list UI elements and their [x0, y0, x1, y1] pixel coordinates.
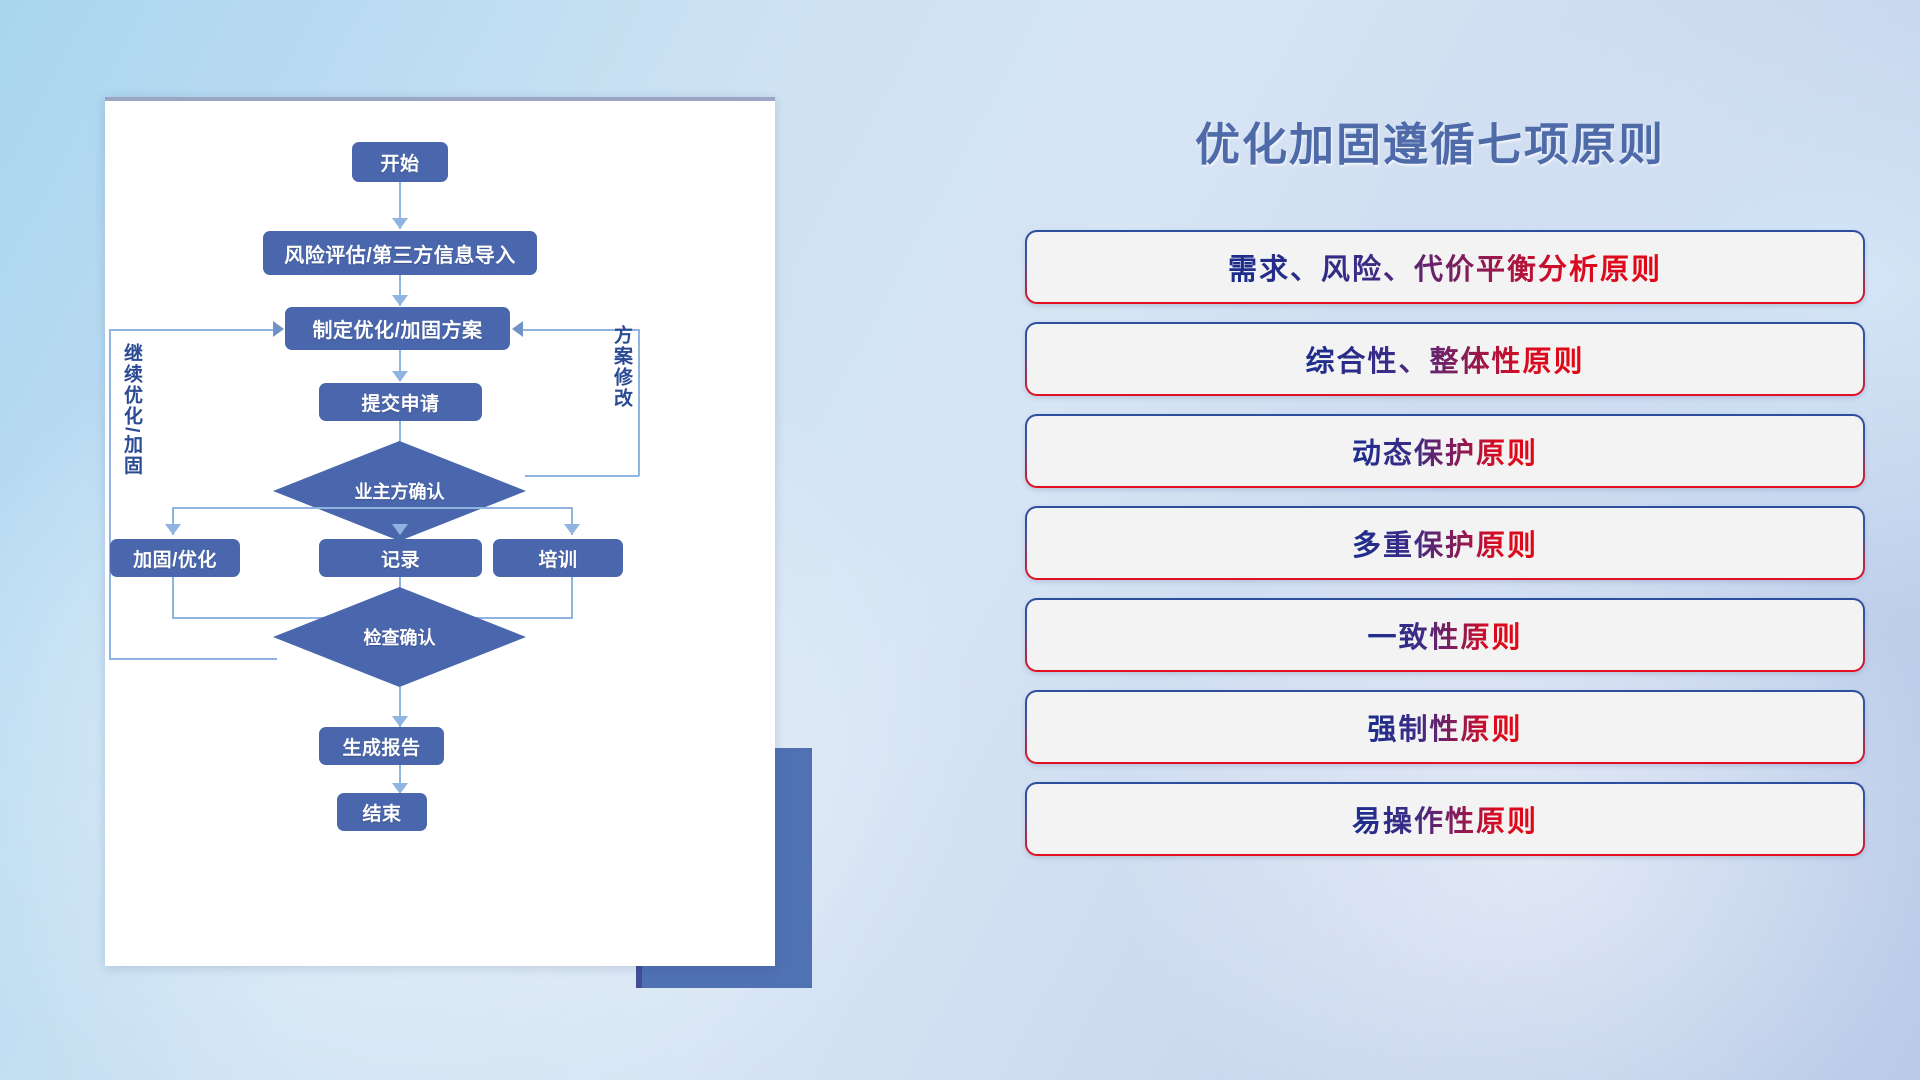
edge-label-continue-optimize: 继续优化/加固 — [121, 343, 141, 476]
arrowhead-down-submit — [392, 371, 408, 382]
flow-node-risk-assessment[interactable]: 风险评估/第三方信息导入 — [263, 231, 537, 275]
flow-node-record[interactable]: 记录 — [319, 539, 482, 577]
connector-reinforce-down — [172, 577, 174, 619]
arrowhead-right-plan-left — [273, 321, 284, 337]
principles-panel: 优化加固遵循七项原则 需求、风险、代价平衡分析原则 综合性、整体性原则 动态保护… — [990, 0, 1920, 1080]
connector-fanout-bar — [172, 507, 572, 509]
page-title: 优化加固遵循七项原则 — [990, 108, 1870, 173]
flow-node-generate-report[interactable]: 生成报告 — [319, 727, 444, 765]
flow-node-start[interactable]: 开始 — [352, 142, 448, 182]
principle-label: 综合性、整体性原则 — [1305, 338, 1584, 380]
principle-label: 易操作性原则 — [1352, 798, 1538, 840]
arrowhead-down-plan — [392, 295, 408, 306]
connector-loop-left-vertical — [109, 329, 111, 659]
principle-label: 一致性原则 — [1367, 614, 1522, 656]
connector-owner-to-right-loop — [525, 475, 639, 477]
arrowhead-down-report — [392, 716, 408, 727]
principle-label: 多重保护原则 — [1352, 522, 1538, 564]
flow-node-submit-application[interactable]: 提交申请 — [319, 383, 482, 421]
principle-item-6[interactable]: 强制性原则 — [1025, 690, 1865, 764]
principle-item-5[interactable]: 一致性原则 — [1025, 598, 1865, 672]
principles-list: 需求、风险、代价平衡分析原则 综合性、整体性原则 动态保护原则 多重保护原则 一… — [1025, 230, 1865, 874]
arrowhead-down-record — [392, 524, 408, 535]
arrowhead-down-risk — [392, 218, 408, 229]
arrowhead-down-reinforce — [165, 524, 181, 535]
connector-loop-right-vertical — [638, 329, 640, 476]
principle-item-7[interactable]: 易操作性原则 — [1025, 782, 1865, 856]
principle-item-1[interactable]: 需求、风险、代价平衡分析原则 — [1025, 230, 1865, 304]
principle-item-3[interactable]: 动态保护原则 — [1025, 414, 1865, 488]
connector-check-to-left-loop — [109, 658, 277, 660]
edge-label-plan-revision: 方案修改 — [611, 325, 631, 409]
flow-node-end[interactable]: 结束 — [337, 793, 427, 831]
arrowhead-down-train — [564, 524, 580, 535]
flow-node-reinforce-optimize[interactable]: 加固/优化 — [110, 539, 240, 577]
flowchart-panel: 开始 风险评估/第三方信息导入 制定优化/加固方案 继续优化/加固 方案修改 提… — [0, 0, 820, 1080]
connector-loop-left-top — [109, 329, 277, 331]
principle-item-4[interactable]: 多重保护原则 — [1025, 506, 1865, 580]
flow-node-make-plan[interactable]: 制定优化/加固方案 — [285, 307, 510, 350]
principle-label: 动态保护原则 — [1352, 430, 1538, 472]
principle-label: 需求、风险、代价平衡分析原则 — [1228, 246, 1662, 288]
connector-train-down — [571, 577, 573, 619]
principle-label: 强制性原则 — [1367, 706, 1522, 748]
arrowhead-left-plan-right — [512, 321, 523, 337]
principle-item-2[interactable]: 综合性、整体性原则 — [1025, 322, 1865, 396]
flowchart-canvas: 开始 风险评估/第三方信息导入 制定优化/加固方案 继续优化/加固 方案修改 提… — [105, 101, 775, 966]
flowchart-card: 开始 风险评估/第三方信息导入 制定优化/加固方案 继续优化/加固 方案修改 提… — [105, 97, 775, 966]
flow-node-training[interactable]: 培训 — [493, 539, 623, 577]
flow-decision-check-confirm-shape[interactable]: 检查确认 — [273, 587, 526, 687]
